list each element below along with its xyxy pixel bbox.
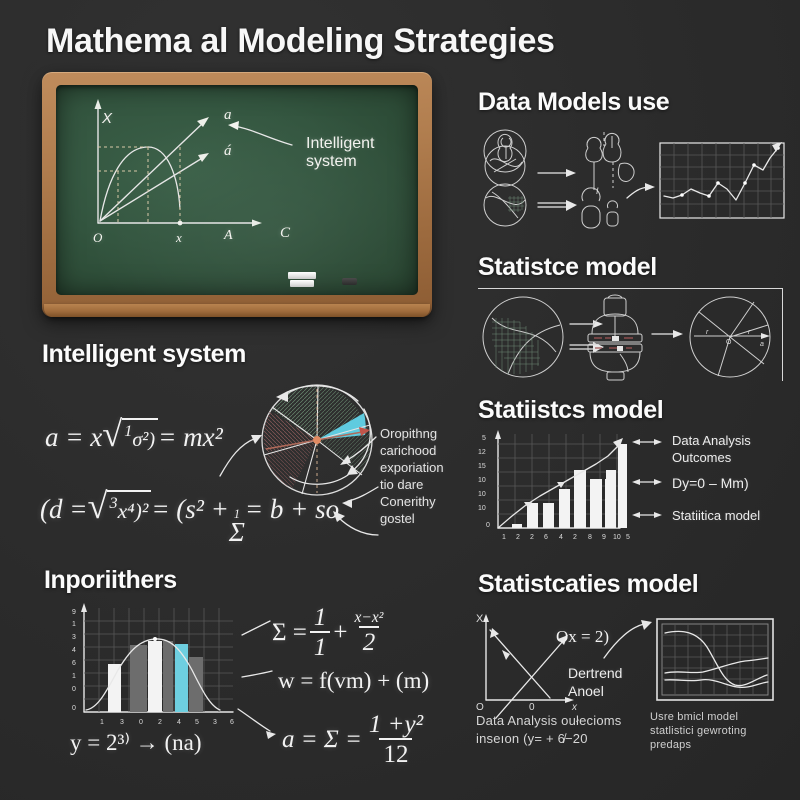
section-title-statistcaties: Statistcaties model (478, 570, 698, 599)
equation-4: w = f(vm) + (m) (278, 668, 429, 694)
inporiithers-connector-arrows (236, 605, 296, 755)
section-title-statiistcs: Statiistcs model (478, 396, 663, 425)
ytick: 9 (72, 609, 76, 616)
callout-statiitica-model: Statiitica model (672, 508, 760, 523)
section-title-data-models: Data Models use (478, 88, 669, 117)
callout-dy-equals: Dy=0 – Mm) (672, 475, 749, 491)
bottom-equation: y = 2³⁾ → (na) (70, 730, 202, 756)
xtick: 2 (158, 719, 162, 726)
xtick: 1 (100, 719, 104, 726)
numerator: x−x² (351, 610, 388, 627)
equation-5: a = Σ = 1 +y² 12 (282, 712, 430, 767)
ytick: 10 (478, 491, 486, 498)
caption-line: inseıon (y= + 6̸−20 (476, 730, 646, 748)
statistce-divider-h (478, 288, 783, 289)
denominator: 1 (310, 631, 331, 660)
board-origin-label: O (93, 230, 102, 246)
intelligent-system-note: Oropithng carichood exporiation tio dare… (380, 425, 476, 527)
ytick: 3 (72, 634, 76, 641)
arrow-icon-bottom (538, 200, 577, 211)
board-point-a-label: A (224, 228, 233, 244)
bar (108, 664, 121, 712)
inporiithers-bar-chart: 9 1 3 4 6 1 0 0 1 3 0 2 4 5 3 6 (58, 600, 243, 735)
svg-text:r: r (706, 329, 709, 336)
numerator: 1 (310, 605, 331, 631)
board-annotation-line1: Intelligent (306, 135, 375, 153)
caption-line: statlistici gewroting (650, 724, 800, 738)
denominator: 12 (379, 738, 412, 767)
radical-index: 3 (109, 494, 117, 512)
bar (130, 645, 147, 712)
xtick: 9 (602, 534, 606, 541)
data-models-line-chart (660, 142, 784, 218)
board-point-x-label: x (176, 230, 182, 246)
chalk-ledge (44, 304, 430, 317)
ytick: 15 (478, 463, 486, 470)
denominator: 2 (359, 626, 380, 655)
statiistcs-callout-arrows (628, 432, 668, 542)
ytick: 0 (486, 522, 490, 529)
board-curve-a-prime-label: á (224, 143, 232, 160)
xtick: 6 (230, 719, 234, 726)
xtick: 5 (195, 719, 199, 726)
svg-text:O: O (726, 339, 732, 346)
sigma-sup: 1 (234, 509, 240, 520)
caption-line: Data Analysis oułecioms (476, 712, 646, 730)
svg-text:I: I (596, 186, 599, 196)
bar (189, 657, 203, 712)
note-line: tio dare (380, 476, 476, 493)
machine-icon (588, 295, 642, 380)
note-arrows (322, 425, 382, 545)
numerator: 1 +y² (365, 712, 427, 738)
caption-line: Usre bmicl model (650, 710, 800, 724)
statistcaties-panel-chart (655, 617, 775, 702)
section-title-inporiithers: Inporiithers (44, 566, 177, 595)
ytick: 0 (72, 705, 76, 712)
xtick: 1 (502, 534, 506, 541)
board-annotation-line2: system (306, 153, 357, 171)
arrow-icon-3 (652, 330, 683, 338)
equation-2-rhs: = (s² + (151, 494, 229, 524)
radicand: x⁴)² (118, 499, 149, 523)
poster-root: Mathema al Modeling Strategies (0, 0, 800, 800)
ytick: 5 (482, 435, 486, 442)
equation-to-pie-arrow (216, 430, 264, 480)
ytick: 1 (72, 673, 76, 680)
statistcaties-note-line1: Dertrend (568, 665, 622, 681)
arrow-icon-curve (627, 183, 655, 198)
note-line: Conerithy (380, 493, 476, 510)
xtick: 2 (573, 534, 577, 541)
svg-text:X: X (476, 613, 484, 625)
board-curve-a-label: a (224, 107, 232, 124)
globe-icon-top (484, 130, 526, 186)
arrow-icon-1 (570, 320, 603, 328)
board-axis-x-label: C (280, 225, 290, 242)
ytick: 1 (72, 621, 76, 628)
ytick: 6 (72, 660, 76, 667)
xtick: 4 (177, 719, 181, 726)
caption-line: predaps (650, 738, 800, 752)
bar (148, 641, 162, 712)
statistce-diagram: O r r a (478, 292, 778, 382)
fraction-3: 1 +y² 12 (365, 712, 427, 767)
radicand: σ²) (132, 429, 155, 451)
chalkboard-frame: X C O x A a á Intelligent system (42, 72, 432, 317)
equation-1-lhs: a = x (45, 422, 102, 452)
bar (163, 641, 173, 712)
fraction-2: x−x² 2 (351, 610, 388, 656)
figure-icons: I (582, 132, 634, 228)
xtick: 6 (544, 534, 548, 541)
equation-2-lhs: (d = (40, 494, 87, 524)
page-title: Mathema al Modeling Strategies (46, 22, 555, 61)
fraction-1: 1 1 (310, 605, 331, 660)
callout-label: Data Analysis Outcomes (672, 433, 751, 465)
callout-data-analysis-outcomes: Data Analysis Outcomes (672, 432, 797, 466)
sigma-icon: 1Σ (229, 509, 245, 544)
section-title-intelligent-system: Intelligent system (42, 340, 246, 369)
xtick: 2 (516, 534, 520, 541)
chalkboard-surface: X C O x A a á Intelligent system (56, 85, 418, 295)
xtick: 2 (530, 534, 534, 541)
svg-text:a: a (760, 341, 764, 348)
radical-icon: √1σ²) (102, 418, 158, 453)
note-line: exporiation (380, 459, 476, 476)
note-line: Oropithng (380, 425, 476, 442)
arrow-icon-top (538, 169, 576, 177)
equation-3-plus: + (333, 619, 347, 647)
xtick: 3 (120, 719, 124, 726)
statiistcs-bar-chart: 5 12 15 10 10 10 0 1 2 2 6 4 2 8 9 10 5 (470, 428, 630, 548)
statistce-divider-v (782, 288, 783, 381)
statistcaties-caption-right: Usre bmicl model statlistici gewroting p… (650, 710, 800, 752)
eraser (342, 278, 357, 285)
xtick: 3 (213, 719, 217, 726)
chalk-stick (288, 272, 316, 279)
ytick: 10 (478, 477, 486, 484)
pie-circle-icon: O r r a (690, 297, 770, 377)
xtick: 10 (613, 534, 621, 541)
ytick: 12 (478, 449, 486, 456)
statistcaties-curve-arrow (600, 612, 660, 662)
note-line: gostel (380, 510, 476, 527)
globe-icon-bottom (484, 184, 526, 226)
ytick: 4 (72, 647, 76, 654)
ytick: 10 (478, 505, 486, 512)
chalk-stick (290, 280, 314, 287)
data-models-diagram: I (470, 128, 790, 228)
hatched-circle-icon (483, 297, 563, 377)
equation-1-rhs: = mx² (158, 422, 223, 452)
equation-1: a = x√1σ²)= mx² (45, 418, 223, 453)
section-title-statistce: Statistce model (478, 253, 657, 282)
note-line: carichood (380, 442, 476, 459)
statistcaties-note-line2: Anoel (568, 683, 604, 699)
xtick: 8 (588, 534, 592, 541)
chalkboard: X C O x A a á Intelligent system (42, 72, 432, 317)
statistcaties-caption-left: Data Analysis oułecioms inseıon (y= + 6̸… (476, 712, 646, 748)
ytick: 0 (72, 686, 76, 693)
xtick: 4 (559, 534, 563, 541)
board-axis-y-label: X (102, 110, 112, 127)
xtick: 0 (139, 719, 143, 726)
radical-icon: √3x⁴)² (87, 490, 151, 525)
